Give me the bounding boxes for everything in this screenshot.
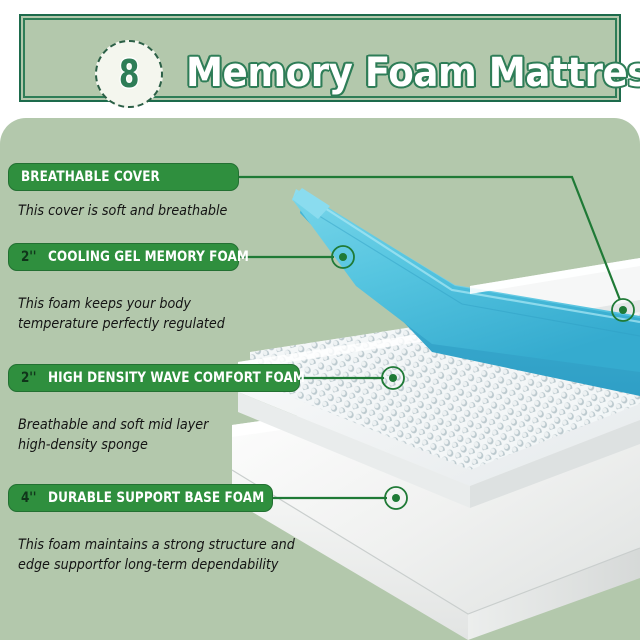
callout-measure: 2'' [21,249,36,265]
callout-label-text: DURABLE SUPPORT BASE FOAM [48,490,264,506]
callout-measure: 4'' [21,490,36,506]
infographic-canvas: 8 Memory Foam Mattress [0,0,640,640]
page-title: Memory Foam Mattress [186,42,595,104]
callout-label-high-density-wave-comfort-foam[interactable]: 2'' HIGH DENSITY WAVE COMFORT FOAM [8,364,300,392]
callout-body-high-density-wave-comfort-foam: Breathable and soft mid layer high-densi… [18,415,282,455]
callout-label-text: HIGH DENSITY WAVE COMFORT FOAM [48,370,305,386]
callout-body-breathable-cover: This cover is soft and breathable [18,201,273,221]
callout-label-durable-support-base-foam[interactable]: 4'' DURABLE SUPPORT BASE FOAM [8,484,273,512]
callout-label-text: BREATHABLE COVER [21,169,160,185]
callout-measure: 2'' [21,370,36,386]
callout-body-durable-support-base-foam: This foam maintains a strong structure a… [18,535,308,575]
callout-body-cooling-gel-memory-foam: This foam keeps your body temperature pe… [18,294,282,334]
callout-label-cooling-gel-memory-foam[interactable]: 2'' COOLING GEL MEMORY FOAM [8,243,239,271]
step-badge-number: 8 [119,55,140,93]
step-badge: 8 [95,40,163,108]
header-banner: 8 Memory Foam Mattress [19,14,621,102]
callout-label-text: COOLING GEL MEMORY FOAM [48,249,249,265]
callout-label-breathable-cover[interactable]: BREATHABLE COVER [8,163,239,191]
